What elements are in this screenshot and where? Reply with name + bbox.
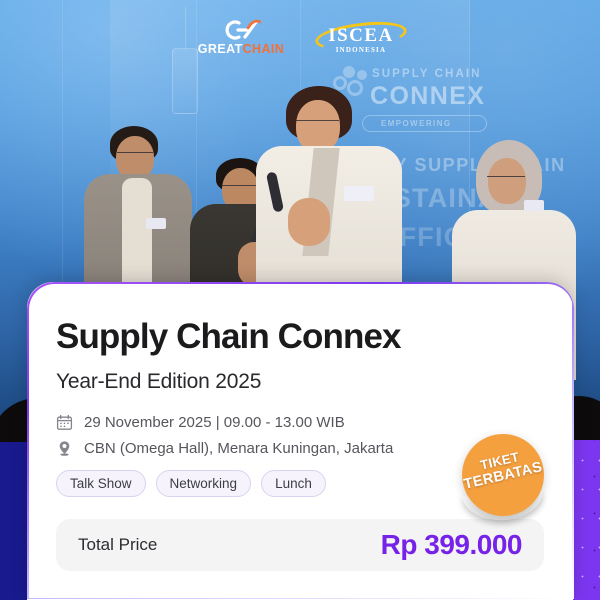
iscea-logo: ISCEA INDONESIA — [315, 19, 407, 59]
tag-chip-lunch[interactable]: Lunch — [261, 470, 326, 497]
greatchain-word-primary: GREAT — [198, 42, 243, 56]
total-price-label: Total Price — [78, 535, 157, 555]
event-location-text: CBN (Omega Hall), Menara Kuningan, Jakar… — [84, 440, 393, 457]
brand-logos: GREATCHAIN ISCEA INDONESIA — [0, 18, 600, 60]
limited-ticket-badge: TIKET TERBATAS — [462, 434, 544, 516]
screenshot-frame: SUPPLY CHAIN CONNEX EMPOWERING T-READY S… — [0, 0, 600, 600]
greatchain-logo: GREATCHAIN — [193, 19, 289, 59]
tag-chip-networking[interactable]: Networking — [156, 470, 252, 497]
event-date-row: 29 November 2025 | 09.00 - 13.00 WIB — [56, 414, 544, 431]
event-title: Supply Chain Connex — [56, 317, 544, 357]
calendar-icon — [56, 414, 73, 431]
sticker-text: TIKET TERBATAS — [454, 426, 552, 524]
event-subtitle: Year-End Edition 2025 — [56, 370, 544, 394]
iscea-subtitle: INDONESIA — [315, 46, 407, 54]
total-price-value: Rp 399.000 — [381, 529, 522, 561]
gc-monogram-icon — [223, 19, 261, 41]
map-pin-icon — [56, 440, 73, 457]
event-date-text: 29 November 2025 | 09.00 - 13.00 WIB — [84, 414, 345, 431]
tag-chip-talk-show[interactable]: Talk Show — [56, 470, 146, 497]
left-color-strip — [0, 442, 27, 600]
greatchain-word-accent: CHAIN — [243, 42, 285, 56]
backdrop-eyebrow: SUPPLY CHAIN — [372, 68, 482, 80]
total-price-bar: Total Price Rp 399.000 — [56, 519, 544, 571]
greatchain-wordmark: GREATCHAIN — [193, 42, 289, 56]
iscea-wordmark: ISCEA — [315, 25, 407, 47]
right-color-strip — [570, 440, 600, 600]
